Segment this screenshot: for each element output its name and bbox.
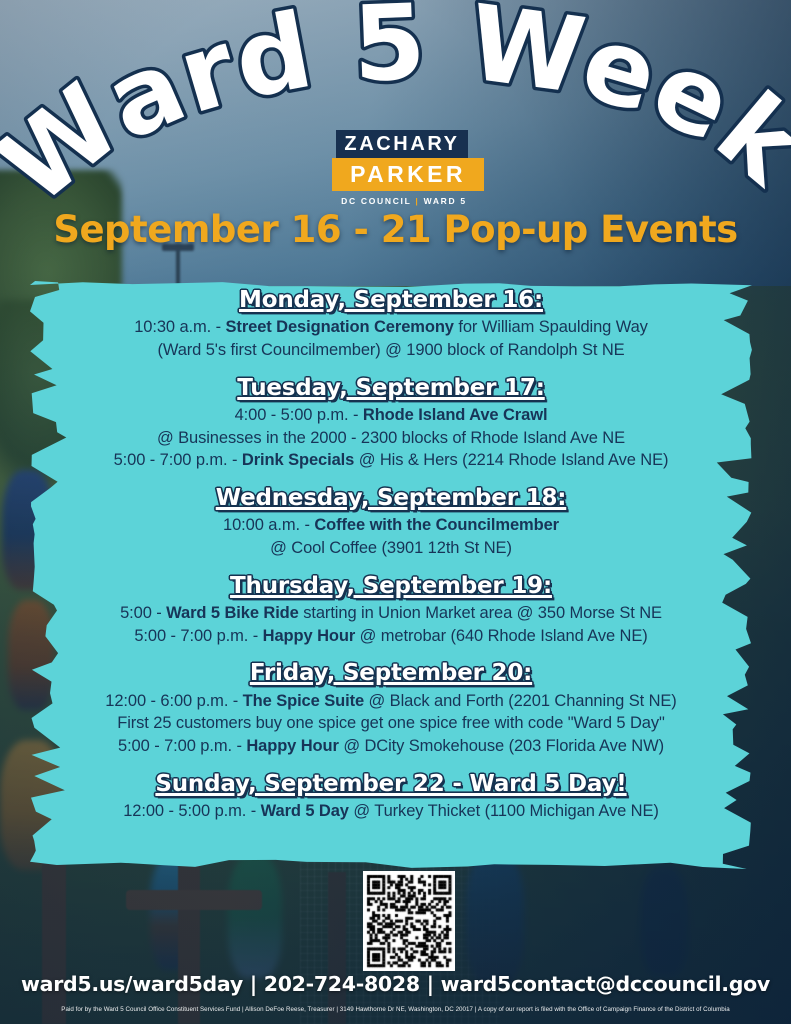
event-line: 10:30 a.m. - Street Designation Ceremony…: [44, 316, 738, 339]
event-line: (Ward 5's first Councilmember) @ 1900 bl…: [44, 339, 738, 362]
logo-first-name: ZACHARY: [336, 130, 468, 158]
event-detail: @ metrobar (640 Rhode Island Ave NE): [355, 627, 647, 645]
event-name: Happy Hour: [246, 737, 339, 755]
event-name: Drink Specials: [242, 451, 354, 469]
day-heading: Thursday, September 19:: [44, 573, 738, 600]
event-detail: starting in Union Market area @ 350 Mors…: [299, 604, 662, 622]
event-detail: @ DCity Smokehouse (203 Florida Ave NW): [339, 737, 664, 755]
schedule-content: Monday, September 16:10:30 a.m. - Street…: [30, 281, 752, 869]
event-line: 4:00 - 5:00 p.m. - Rhode Island Ave Craw…: [44, 404, 738, 427]
qr-code-canvas: [363, 871, 455, 971]
event-detail: @ His & Hers (2214 Rhode Island Ave NE): [354, 451, 668, 469]
event-line: 12:00 - 6:00 p.m. - The Spice Suite @ Bl…: [44, 690, 738, 713]
event-name: Ward 5 Bike Ride: [166, 604, 299, 622]
logo-tagline: DC COUNCIL | WARD 5: [324, 196, 484, 206]
logo-tagline-divider: |: [415, 196, 419, 206]
event-line: 5:00 - 7:00 p.m. - Happy Hour @ DCity Sm…: [44, 735, 738, 758]
event-line: @ Businesses in the 2000 - 2300 blocks o…: [44, 427, 738, 450]
event-detail: 10:30 a.m. -: [134, 318, 225, 336]
day-block: Sunday, September 22 - Ward 5 Day!12:00 …: [44, 771, 738, 823]
event-name: Coffee with the Councilmember: [314, 516, 559, 534]
day-heading: Sunday, September 22 - Ward 5 Day!: [44, 771, 738, 798]
day-heading: Wednesday, September 18:: [44, 485, 738, 512]
event-detail: First 25 customers buy one spice get one…: [117, 714, 665, 732]
logo-tagline-right: WARD 5: [424, 196, 467, 206]
event-name: Street Designation Ceremony: [226, 318, 454, 336]
event-detail: (Ward 5's first Councilmember) @ 1900 bl…: [157, 341, 624, 359]
event-line: 12:00 - 5:00 p.m. - Ward 5 Day @ Turkey …: [44, 800, 738, 823]
footer-contact[interactable]: ward5.us/ward5day | 202-724-8028 | ward5…: [0, 972, 791, 996]
qr-code[interactable]: [363, 871, 455, 971]
event-name: Rhode Island Ave Crawl: [363, 406, 548, 424]
event-detail: for William Spaulding Way: [454, 318, 648, 336]
event-detail: @ Businesses in the 2000 - 2300 blocks o…: [157, 429, 625, 447]
event-name: The Spice Suite: [243, 692, 364, 710]
schedule-panel: Monday, September 16:10:30 a.m. - Street…: [30, 281, 752, 869]
campaign-logo: ZACHARY PARKER DC COUNCIL | WARD 5: [324, 130, 484, 206]
event-detail: 5:00 - 7:00 p.m. -: [134, 627, 262, 645]
event-line: 5:00 - Ward 5 Bike Ride starting in Unio…: [44, 602, 738, 625]
event-name: Ward 5 Day: [261, 802, 349, 820]
day-block: Thursday, September 19:5:00 - Ward 5 Bik…: [44, 573, 738, 648]
poster-subtitle: September 16 - 21 Pop-up Events: [0, 208, 791, 251]
event-detail: @ Turkey Thicket (1100 Michigan Ave NE): [349, 802, 659, 820]
event-detail: @ Cool Coffee (3901 12th St NE): [270, 539, 512, 557]
event-detail: @ Black and Forth (2201 Channing St NE): [364, 692, 677, 710]
day-block: Monday, September 16:10:30 a.m. - Street…: [44, 287, 738, 362]
event-detail: 5:00 -: [120, 604, 166, 622]
event-detail: 12:00 - 6:00 p.m. -: [105, 692, 242, 710]
event-detail: 4:00 - 5:00 p.m. -: [235, 406, 363, 424]
day-block: Tuesday, September 17:4:00 - 5:00 p.m. -…: [44, 375, 738, 472]
day-heading: Tuesday, September 17:: [44, 375, 738, 402]
event-detail: 5:00 - 7:00 p.m. -: [114, 451, 242, 469]
event-line: 10:00 a.m. - Coffee with the Councilmemb…: [44, 514, 738, 537]
poster-root: Ward 5 Week ZACHARY PARKER DC COUNCIL | …: [0, 0, 791, 1024]
day-heading: Friday, September 20:: [44, 660, 738, 687]
logo-tagline-left: DC COUNCIL: [341, 196, 411, 206]
event-line: 5:00 - 7:00 p.m. - Happy Hour @ metrobar…: [44, 625, 738, 648]
logo-last-name: PARKER: [332, 158, 484, 191]
event-line: First 25 customers buy one spice get one…: [44, 712, 738, 735]
day-block: Wednesday, September 18:10:00 a.m. - Cof…: [44, 485, 738, 560]
event-detail: 5:00 - 7:00 p.m. -: [118, 737, 246, 755]
event-detail: 12:00 - 5:00 p.m. -: [123, 802, 260, 820]
day-block: Friday, September 20:12:00 - 6:00 p.m. -…: [44, 660, 738, 757]
event-name: Happy Hour: [263, 627, 356, 645]
day-heading: Monday, September 16:: [44, 287, 738, 314]
footer-disclaimer: Paid for by the Ward 5 Council Office Co…: [0, 1006, 791, 1013]
event-detail: 10:00 a.m. -: [223, 516, 314, 534]
event-line: @ Cool Coffee (3901 12th St NE): [44, 537, 738, 560]
event-line: 5:00 - 7:00 p.m. - Drink Specials @ His …: [44, 449, 738, 472]
